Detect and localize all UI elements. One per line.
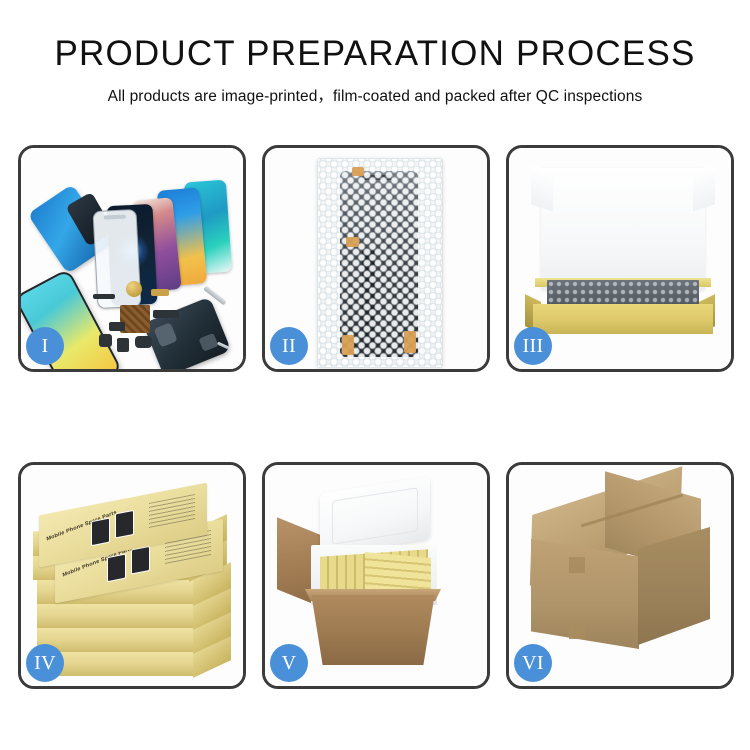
yellow-box-front [533, 304, 713, 334]
tape-piece-bottom-right [404, 331, 416, 353]
step-badge-1: I [26, 327, 64, 365]
flex-cable-part-b [153, 310, 179, 318]
tape-piece-mid [346, 237, 359, 247]
process-panel-grid: I II [18, 145, 734, 689]
process-step-3: III [506, 145, 734, 372]
tape-piece-top [352, 167, 364, 176]
box-stack: Mobile Phone Spare Parts Mobile Phone Sp… [33, 483, 239, 673]
carton-front-face [303, 595, 443, 665]
tape-piece-bottom-left [342, 335, 354, 355]
small-component-a [109, 322, 125, 331]
process-step-4: Mobile Phone Spare Parts Mobile Phone Sp… [18, 462, 246, 689]
box-lid-phone-graphic-d [115, 510, 134, 539]
product-preparation-infographic: PRODUCT PREPARATION PROCESS All products… [0, 0, 750, 750]
process-step-5: V [262, 462, 490, 689]
carton-front-panel [531, 539, 639, 649]
foam-box-lid [320, 476, 430, 555]
process-step-2: II [262, 145, 490, 372]
carton-tape-upper [569, 557, 585, 573]
page-title: PRODUCT PREPARATION PROCESS [0, 36, 750, 73]
page-subtitle: All products are image-printed，film-coat… [0, 84, 750, 106]
box-lid-text-lines-back [149, 494, 195, 529]
step-badge-3: III [514, 327, 552, 365]
speaker-part [93, 294, 115, 299]
step-badge-2: II [270, 327, 308, 365]
box-lid-phone-graphic-c [91, 518, 110, 547]
step-badge-6: VI [514, 644, 552, 682]
box-lid-phone-graphic-a [107, 554, 126, 583]
small-component-c [117, 338, 129, 352]
carton-tape-lower [569, 623, 585, 639]
bubble-texture [318, 159, 442, 367]
flex-cable-part-a [151, 289, 169, 296]
header: PRODUCT PREPARATION PROCESS All products… [0, 0, 750, 106]
step-badge-4: IV [26, 644, 64, 682]
white-foam-lining [541, 168, 705, 290]
step-badge-5: V [270, 644, 308, 682]
small-component-b [99, 334, 112, 347]
bubble-wrap-bag [317, 158, 443, 368]
taptic-engine-part [126, 281, 142, 297]
box-lid-phone-graphic-b [131, 546, 150, 575]
process-step-6: VI [506, 462, 734, 689]
camera-module-part [135, 336, 152, 348]
process-step-1: I [18, 145, 246, 372]
